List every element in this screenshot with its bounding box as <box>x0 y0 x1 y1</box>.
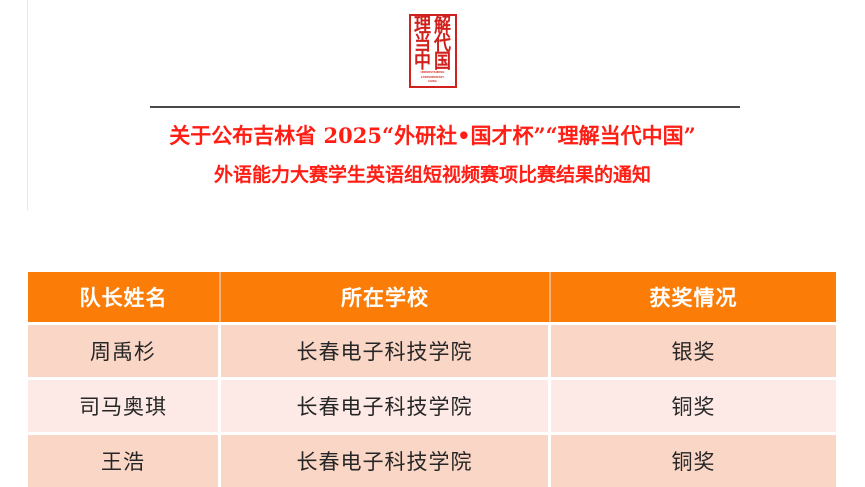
results-table: 队长姓名 所在学校 获奖情况 周禹杉 长春电子科技学院 银奖 司马奥琪 长春电子… <box>28 272 836 487</box>
cell-captain: 周禹杉 <box>28 322 221 377</box>
cell-award: 铜奖 <box>551 377 836 432</box>
table-row: 司马奥琪 长春电子科技学院 铜奖 <box>28 377 836 432</box>
cell-award: 铜奖 <box>551 432 836 487</box>
logo-container: 理 解 当 代 中 国 UNDERSTANDING CONTEMPORARY C… <box>0 14 865 88</box>
cell-award: 银奖 <box>551 322 836 377</box>
logo-char-5: 中 <box>414 53 431 72</box>
document-title: 关于公布吉林省 2025“外研社•国才杯”“理解当代中国” 外语能力大赛学生英语… <box>0 116 865 194</box>
column-header-award: 获奖情况 <box>551 272 836 322</box>
logo-english-line-3: CHINA <box>413 80 453 84</box>
cell-captain: 王浩 <box>28 432 221 487</box>
table-row: 周禹杉 长春电子科技学院 银奖 <box>28 322 836 377</box>
logo-char-6: 国 <box>434 53 451 72</box>
title-line-1: 关于公布吉林省 2025“外研社•国才杯”“理解当代中国” <box>0 116 865 156</box>
cell-school: 长春电子科技学院 <box>221 432 551 487</box>
logo-characters: 理 解 当 代 中 国 <box>413 18 453 71</box>
column-header-captain: 队长姓名 <box>28 272 221 322</box>
column-header-school: 所在学校 <box>221 272 551 322</box>
cell-school: 长春电子科技学院 <box>221 377 551 432</box>
cell-school: 长春电子科技学院 <box>221 322 551 377</box>
cell-captain: 司马奥琪 <box>28 377 221 432</box>
table-header-row: 队长姓名 所在学校 获奖情况 <box>28 272 836 322</box>
header-divider <box>150 106 740 108</box>
table-row: 王浩 长春电子科技学院 铜奖 <box>28 432 836 487</box>
title-line-2: 外语能力大赛学生英语组短视频赛项比赛结果的通知 <box>0 156 865 194</box>
understanding-contemporary-china-seal-icon: 理 解 当 代 中 国 UNDERSTANDING CONTEMPORARY C… <box>409 14 457 88</box>
